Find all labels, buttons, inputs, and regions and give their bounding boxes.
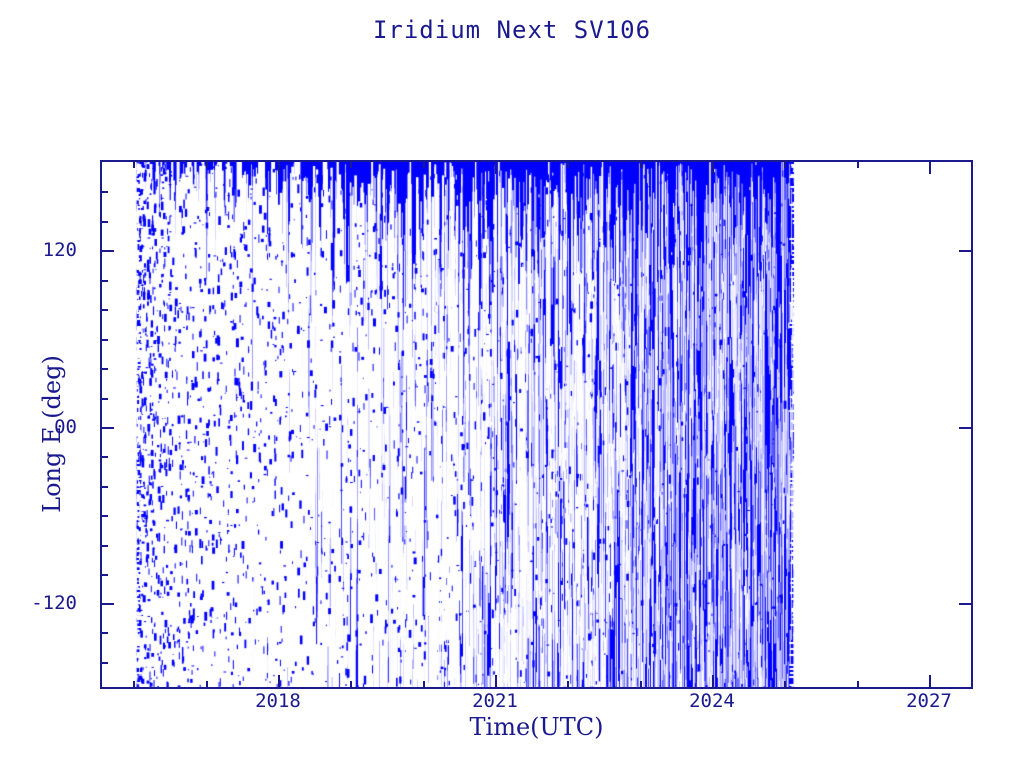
xtick-top-minor [567, 160, 569, 168]
xtick-major-2024 [712, 675, 714, 689]
xtick-minor [206, 681, 208, 689]
ytick-minor [100, 398, 108, 400]
ytick-minor [100, 574, 108, 576]
xtick-top-minor [206, 160, 208, 168]
figure-root: Iridium Next SV106 120 0 [0, 0, 1024, 768]
xtick-top-minor [423, 160, 425, 168]
x-axis-title: Time(UTC) [100, 713, 973, 741]
ytick-minor [100, 486, 108, 488]
ytick-major-minus120 [100, 603, 114, 605]
ytick-minor [100, 632, 108, 634]
plot-data-area [102, 162, 971, 687]
xtick-top-minor [784, 160, 786, 168]
xtick-top-major [712, 160, 714, 174]
ytick-right-major [959, 427, 973, 429]
xtick-major-2018 [278, 675, 280, 689]
xtick-label-2018: 2018 [218, 690, 338, 712]
ytick-right-major [959, 250, 973, 252]
xtick-top-minor [857, 160, 859, 168]
xtick-top-minor [640, 160, 642, 168]
xtick-major-2021 [495, 675, 497, 689]
ytick-minor [100, 221, 108, 223]
xtick-top-minor [350, 160, 352, 168]
page-title: Iridium Next SV106 [0, 16, 1024, 44]
ytick-minor [100, 368, 108, 370]
xtick-label-2027: 2027 [869, 690, 989, 712]
ytick-minor [100, 662, 108, 664]
ytick-label-120: 120 [0, 239, 77, 261]
xtick-minor [133, 681, 135, 689]
ytick-major-00 [100, 427, 114, 429]
ytick-right-major [959, 603, 973, 605]
xtick-minor [350, 681, 352, 689]
xtick-top-major [495, 160, 497, 174]
xtick-minor [784, 681, 786, 689]
xtick-label-2024: 2024 [652, 690, 772, 712]
xtick-top-major [929, 160, 931, 174]
xtick-minor [640, 681, 642, 689]
xtick-top-minor [133, 160, 135, 168]
ytick-minor [100, 456, 108, 458]
y-axis-title: Long E (deg) [38, 294, 66, 574]
ytick-label-minus120: -120 [0, 592, 77, 614]
plot-frame [100, 160, 973, 689]
ytick-minor [100, 515, 108, 517]
xtick-major-2027 [929, 675, 931, 689]
xtick-minor [857, 681, 859, 689]
ytick-minor [100, 191, 108, 193]
xtick-label-2021: 2021 [435, 690, 555, 712]
ytick-minor [100, 339, 108, 341]
ytick-minor [100, 545, 108, 547]
ytick-major-120 [100, 250, 114, 252]
xtick-minor [423, 681, 425, 689]
ytick-minor [100, 309, 108, 311]
xtick-top-major [278, 160, 280, 174]
ytick-minor [100, 280, 108, 282]
xtick-minor [567, 681, 569, 689]
